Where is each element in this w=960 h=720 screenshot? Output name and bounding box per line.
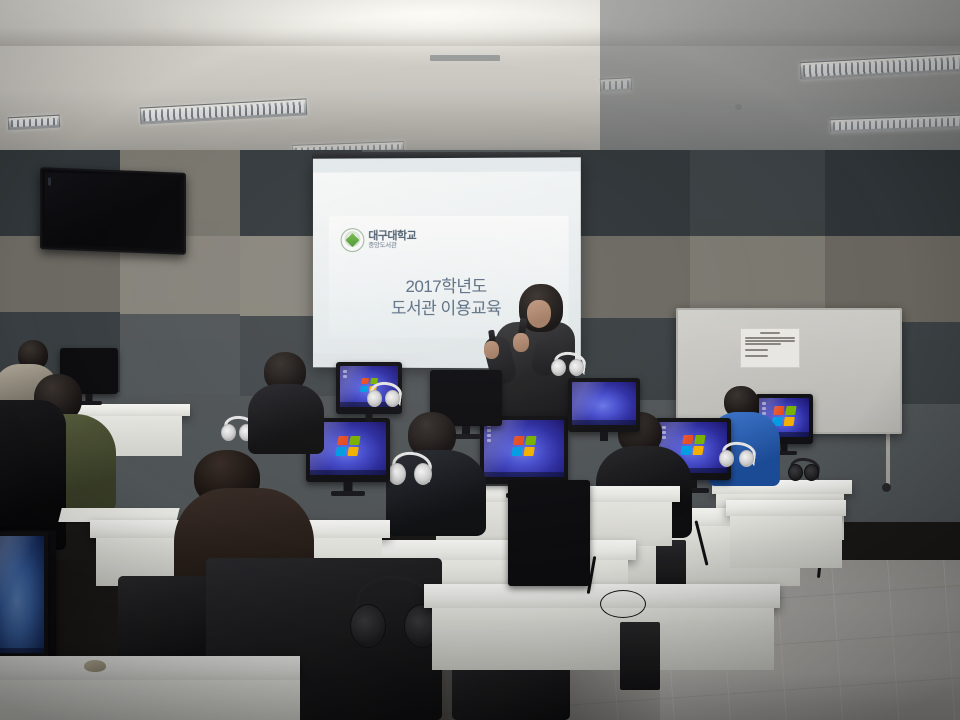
pc-tower <box>620 622 660 690</box>
posted-notice <box>740 328 800 368</box>
ceiling-troffer-light <box>140 98 308 124</box>
presenter-right-hand <box>513 333 529 352</box>
headphone-earcup <box>414 463 432 485</box>
student-torso <box>0 400 66 550</box>
headphone-earcup <box>739 450 754 467</box>
ceiling-shadow-right <box>600 0 960 172</box>
monitor-rear[interactable] <box>508 480 590 586</box>
monitor[interactable] <box>568 378 640 432</box>
logo-institution-name: 대구대학교 <box>368 231 416 242</box>
notice-text-line <box>745 343 781 345</box>
monitor[interactable] <box>480 416 568 484</box>
notice-signature-line <box>745 355 768 357</box>
presenter-left-hand <box>484 341 499 359</box>
headphones[interactable] <box>554 352 580 367</box>
acoustic-panel <box>120 314 240 394</box>
headphone-earcup <box>221 424 236 441</box>
headphones[interactable] <box>356 576 430 628</box>
monitor-screen <box>484 420 564 477</box>
screen-glare <box>484 420 564 477</box>
student-torso <box>248 384 324 454</box>
ceiling <box>0 0 960 172</box>
mouse[interactable] <box>84 660 106 672</box>
headphones[interactable] <box>392 452 426 474</box>
monitor-screen <box>572 382 636 425</box>
acoustic-panel <box>690 150 825 236</box>
notice-text-line <box>745 337 795 339</box>
screen-glare <box>0 536 44 653</box>
desk-front-panel <box>0 680 300 720</box>
headphones[interactable] <box>790 458 814 472</box>
notice-text-line <box>745 349 768 351</box>
wall-tv[interactable] <box>40 167 186 255</box>
green-diamond-emblem-icon <box>341 228 365 252</box>
desk <box>0 656 300 680</box>
monitor-base <box>331 491 365 496</box>
headphone-earcup <box>350 604 386 648</box>
taskbar <box>310 470 386 475</box>
desk-front-panel <box>730 516 842 568</box>
headphone-earcup <box>551 359 566 376</box>
ceiling-vent <box>430 55 500 61</box>
headphones[interactable] <box>224 416 250 432</box>
taskbar <box>484 472 564 477</box>
ceiling-troffer-light <box>8 115 61 131</box>
monitor-stand <box>366 414 373 422</box>
taskbar <box>0 648 44 653</box>
headphone-earcup <box>804 464 819 481</box>
ceiling-troffer-light <box>600 77 633 93</box>
desk-front-panel <box>432 608 774 670</box>
notice-text-line <box>745 340 795 342</box>
headphones[interactable] <box>722 442 750 458</box>
ceiling-vent <box>735 104 742 110</box>
monitor[interactable] <box>0 532 48 660</box>
classroom-photo: 대구대학교 중앙도서관 2017학년도 도서관 이용교육 <box>0 0 960 720</box>
diamond-shape-icon <box>345 233 359 247</box>
headphone-earcup <box>388 463 406 485</box>
university-library-logo: 대구대학교 중앙도서관 <box>341 228 417 252</box>
monitor-bezel <box>508 480 590 586</box>
logo-department-name: 중앙도서관 <box>368 243 416 250</box>
cable-loop <box>600 590 646 618</box>
tv-screen <box>45 172 181 249</box>
screen-glare <box>572 382 636 425</box>
headphone-earcup <box>569 359 584 376</box>
headphone-earcup <box>385 390 400 407</box>
monitor-screen <box>0 536 44 653</box>
headphone-earcup <box>719 450 734 467</box>
monitor-stand <box>600 432 608 441</box>
desk <box>726 500 846 516</box>
whiteboard-caster <box>882 483 891 492</box>
headphones[interactable] <box>370 382 396 398</box>
acoustic-panel <box>825 150 960 236</box>
tv-power-led-icon <box>48 178 51 186</box>
taskbar <box>572 420 636 425</box>
presenter-face <box>527 300 551 328</box>
notice-heading-line <box>760 332 780 334</box>
headphone-earcup <box>788 464 803 481</box>
headphone-earcup <box>367 390 382 407</box>
